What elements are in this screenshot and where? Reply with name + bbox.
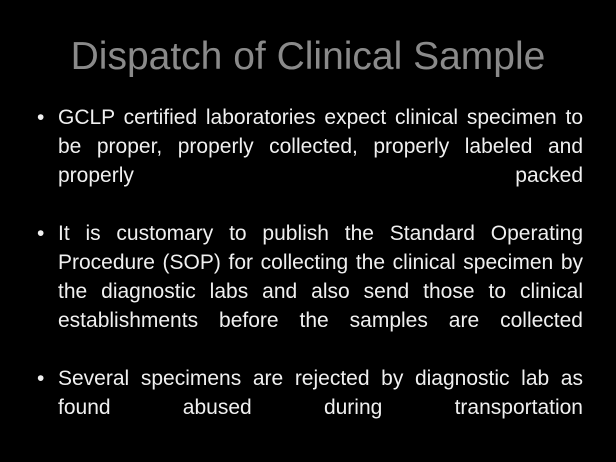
bullet-point-icon: • <box>37 364 51 393</box>
bullet-point-icon: • <box>37 219 51 248</box>
list-item-text: It is customary to publish the Standard … <box>58 219 583 364</box>
slide-title: Dispatch of Clinical Sample <box>0 34 616 80</box>
list-item: • GCLP certified laboratories expect cli… <box>34 103 583 219</box>
bullet-point-icon: • <box>37 103 51 132</box>
list-item-text: Several specimens are rejected by diagno… <box>58 364 583 451</box>
presentation-slide: Dispatch of Clinical Sample • GCLP certi… <box>0 0 616 462</box>
list-item-text: GCLP certified laboratories expect clini… <box>58 103 583 219</box>
list-item: • It is customary to publish the Standar… <box>34 219 583 364</box>
list-item: • Several specimens are rejected by diag… <box>34 364 583 451</box>
slide-body: • GCLP certified laboratories expect cli… <box>34 103 583 451</box>
